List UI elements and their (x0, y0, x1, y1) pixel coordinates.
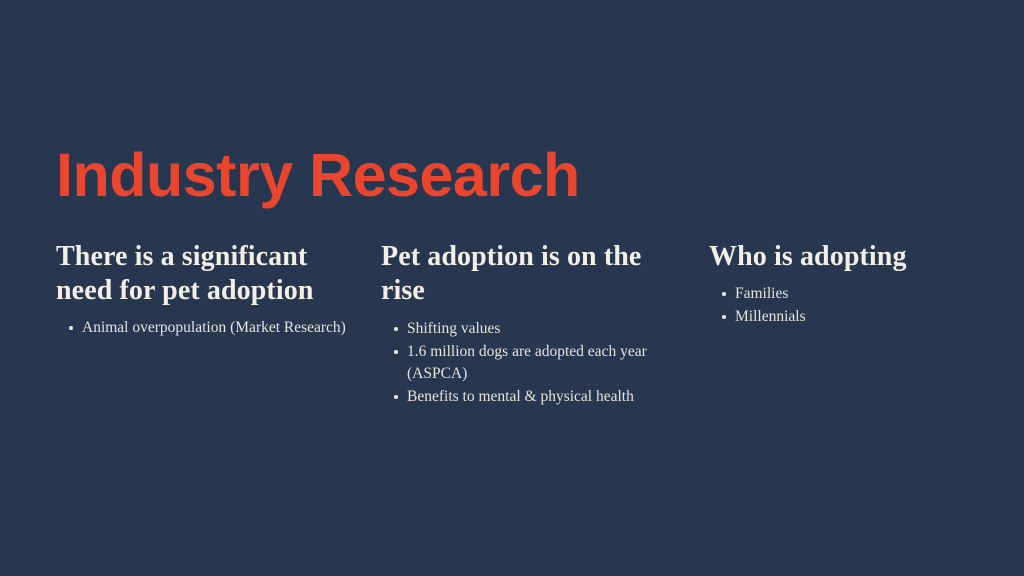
list-item: Families (709, 283, 999, 305)
content-column-1: There is a significant need for pet adop… (56, 240, 356, 340)
content-column-2: Pet adoption is on the rise Shifting val… (381, 240, 681, 409)
column-2-bullet-list: Shifting values 1.6 million dogs are ado… (381, 318, 681, 408)
list-item: 1.6 million dogs are adopted each year (… (381, 341, 681, 385)
list-item: Shifting values (381, 318, 681, 340)
column-1-bullet-list: Animal overpopulation (Market Research) (56, 317, 356, 339)
page-title: Industry Research (56, 140, 580, 210)
content-column-3: Who is adopting Families Millennials (709, 240, 999, 329)
column-2-heading: Pet adoption is on the rise (381, 240, 681, 308)
list-item: Animal overpopulation (Market Research) (56, 317, 356, 339)
list-item: Millennials (709, 306, 999, 328)
presentation-slide: Industry Research There is a significant… (0, 0, 1024, 576)
column-3-bullet-list: Families Millennials (709, 283, 999, 328)
content-columns: There is a significant need for pet adop… (0, 240, 1024, 500)
column-3-heading: Who is adopting (709, 240, 999, 274)
column-1-heading: There is a significant need for pet adop… (56, 240, 356, 308)
list-item: Benefits to mental & physical health (381, 386, 681, 408)
